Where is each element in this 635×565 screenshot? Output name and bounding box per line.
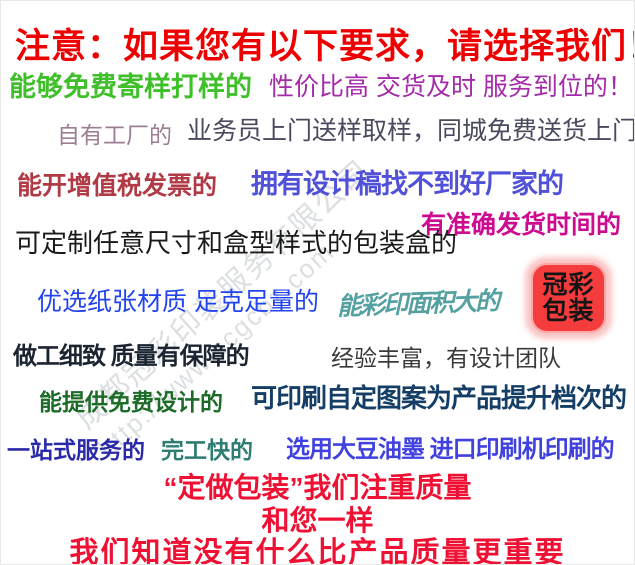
brand-stamp: 冠彩 包装: [531, 263, 606, 333]
stamp-line-1: 冠彩: [542, 272, 594, 298]
feature-design-draft: 拥有设计稿找不到好厂家的: [251, 162, 563, 201]
slogan-line-3: 我们知道没有什么比产品质量更重要: [1, 529, 634, 565]
feature-free-sample: 能够免费寄样打样的: [9, 65, 252, 104]
feature-experience: 经验丰富，有设计团队: [331, 339, 561, 373]
stamp-body: 冠彩 包装: [531, 263, 606, 333]
feature-one-stop: 一站式服务的: [7, 431, 145, 465]
promo-poster: 成都冠彩印装服务有限公司 http://www.scgcbz.com 注意：如果…: [0, 0, 635, 565]
feature-printable: 可印刷自定图案为产品提升档次的: [251, 378, 626, 415]
feature-salesman: 业务员上门送样取样，同城免费送货上门的: [187, 111, 635, 147]
feature-fast: 完工快的: [161, 431, 253, 465]
feature-custom-size: 可定制任意尺寸和盒型样式的包装盒的: [15, 223, 457, 260]
feature-paper: 优选纸张材质 足克足量的: [37, 282, 319, 318]
feature-invoice: 能开增值税发票的: [17, 166, 217, 202]
feature-free-design: 能提供免费设计的: [39, 383, 223, 417]
stamp-line-2: 包装: [542, 298, 594, 324]
feature-soy-ink: 选用大豆油墨 进口印刷机印刷的: [286, 429, 614, 464]
feature-own-factory: 自有工厂的: [57, 116, 172, 150]
feature-print-area: 能彩印面积大的: [336, 281, 498, 323]
poster-headline: 注意：如果您有以下要求，请选择我们！: [15, 18, 635, 69]
feature-workmanship: 做工细致 质量有保障的: [13, 336, 249, 371]
feature-value: 性价比高 交货及时 服务到位的！: [269, 67, 633, 103]
